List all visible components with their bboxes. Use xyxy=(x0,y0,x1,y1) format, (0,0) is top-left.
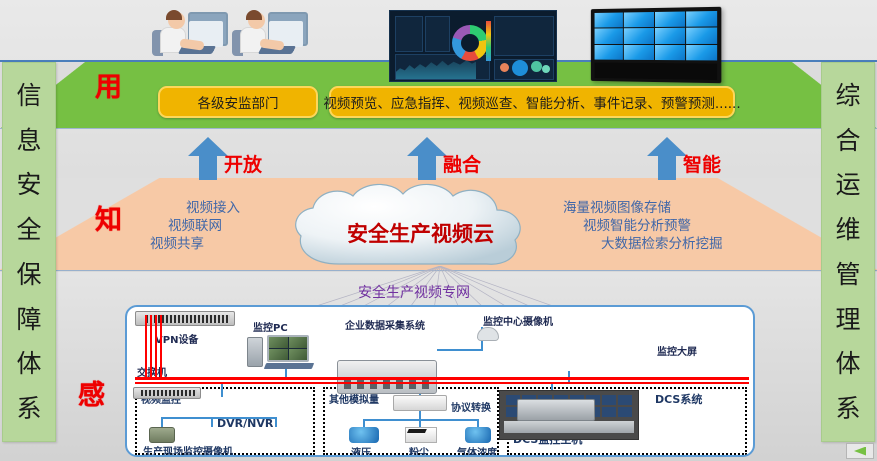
dvr-cam-drop xyxy=(161,417,163,427)
dvr-uplink xyxy=(221,384,223,397)
hydraulic-sensor-icon xyxy=(349,427,379,443)
side-char: 保 xyxy=(16,262,41,287)
arrow-label-intelligent: 智能 xyxy=(683,150,721,177)
side-char: 全 xyxy=(16,217,41,242)
arrow-label-fusion: 融合 xyxy=(443,150,481,177)
private-network-label: 安全生产视频专网 xyxy=(358,282,470,302)
red-riser-line xyxy=(145,315,147,379)
server-to-camera-link xyxy=(437,349,483,351)
side-char: 系 xyxy=(16,396,41,421)
side-char: 系 xyxy=(835,396,860,421)
cloud-left-item: 视频接入 xyxy=(186,196,240,216)
operators-at-computers-image xyxy=(146,8,316,63)
layer-label-sense: 感 xyxy=(78,373,105,412)
right-side-panel-ops-management: 综 合 运 维 管 理 体 系 xyxy=(821,62,875,442)
cloud-left-item: 视频共享 xyxy=(150,232,204,252)
dvr-cam-drop xyxy=(275,417,277,427)
video-wall-image xyxy=(588,8,720,82)
gas-concentration-label: 气体浓度 xyxy=(457,444,497,457)
heat-scale xyxy=(486,21,491,61)
dust-label: 粉尘 xyxy=(409,444,429,457)
sensor-bus-riser xyxy=(419,411,421,419)
side-char: 管 xyxy=(835,262,860,287)
field-camera-label: 生产现场监控摄像机 xyxy=(143,443,233,457)
ptz-camera-icon xyxy=(149,427,175,443)
layer-label-know: 知 xyxy=(95,198,122,237)
arrow-label-open: 开放 xyxy=(224,150,262,177)
donut-chart xyxy=(452,25,488,61)
supervision-departments-box[interactable]: 各级安监部门 xyxy=(158,86,318,118)
sensor-drop xyxy=(363,419,365,427)
red-bus-line xyxy=(135,377,749,380)
diagram-canvas: 用 知 感 信 息 安 全 保 障 体 系 综 合 运 维 管 理 体 系 xyxy=(0,0,877,461)
cloud-right-item: 海量视频图像存储 xyxy=(563,196,671,216)
application-functions-box[interactable]: 视频预览、应急指挥、视频巡查、智能分析、事件记录、预警预测...... xyxy=(329,86,735,118)
side-char: 安 xyxy=(16,172,41,197)
side-char: 息 xyxy=(16,128,41,153)
red-riser-line xyxy=(160,315,162,379)
dcs-host-icon xyxy=(517,399,595,421)
bubble xyxy=(542,65,550,73)
side-char: 理 xyxy=(835,307,860,332)
switch-icon xyxy=(133,387,201,399)
bubble xyxy=(512,60,528,76)
protocol-converter-icon xyxy=(393,395,447,411)
red-bus-line xyxy=(135,382,749,384)
side-char: 合 xyxy=(835,128,860,153)
pc-keyboard-icon xyxy=(264,363,314,369)
center-camera-label: 监控中心摄像机 xyxy=(483,313,553,328)
use-layer-bottom-divider xyxy=(0,128,877,129)
sensing-layer-panel: VPN设备 交换机 监控PC 企业数据采集系统 监控中心摄像机 xyxy=(125,305,755,457)
operator-figure xyxy=(150,8,228,63)
side-char: 体 xyxy=(835,351,860,376)
protocol-converter-label: 协议转换 xyxy=(451,399,491,414)
pc-screen-icon xyxy=(267,335,309,362)
dust-sensor-icon xyxy=(405,427,437,443)
cloud-title: 安全生产视频云 xyxy=(281,218,560,248)
side-char: 体 xyxy=(16,351,41,376)
side-char: 维 xyxy=(835,217,860,242)
red-riser-line xyxy=(155,315,157,379)
dvr-cam-drop xyxy=(211,417,213,427)
play-left-icon xyxy=(854,447,866,456)
gas-sensor-icon xyxy=(465,427,491,443)
cloud-left-item: 视频联网 xyxy=(168,214,222,234)
side-char: 综 xyxy=(835,83,860,108)
side-char: 信 xyxy=(16,83,41,108)
cloud-right-item: 大数据检索分析挖掘 xyxy=(601,232,723,252)
big-screen-label: 监控大屏 xyxy=(657,343,697,358)
side-char: 障 xyxy=(16,307,41,332)
side-char: 运 xyxy=(835,172,860,197)
sensor-drop xyxy=(419,419,421,427)
dcs-system-label: DCS系统 xyxy=(655,391,702,407)
hydraulic-label: 液压 xyxy=(351,444,371,457)
sensor-drop xyxy=(477,419,479,427)
sensor-bus xyxy=(363,419,479,421)
pc-tower-icon xyxy=(247,337,263,367)
operator-figure xyxy=(230,8,308,63)
dvr-cam-bus xyxy=(161,417,277,419)
analytics-dashboard-image xyxy=(389,10,557,82)
bubble xyxy=(531,61,542,72)
left-side-panel-information-security: 信 息 安 全 保 障 体 系 xyxy=(2,62,56,442)
red-riser-line xyxy=(150,315,152,379)
dome-camera-icon xyxy=(477,327,499,341)
monitor-pc-label: 监控PC xyxy=(253,319,288,334)
video-cloud-shape: 安全生产视频云 xyxy=(281,180,560,276)
cloud-right-item: 视频智能分析预警 xyxy=(583,214,691,234)
bubble xyxy=(500,63,509,72)
taskbar-corner-icon[interactable] xyxy=(846,443,874,459)
layer-label-use: 用 xyxy=(95,65,122,104)
data-acquisition-label: 企业数据采集系统 xyxy=(345,317,425,332)
